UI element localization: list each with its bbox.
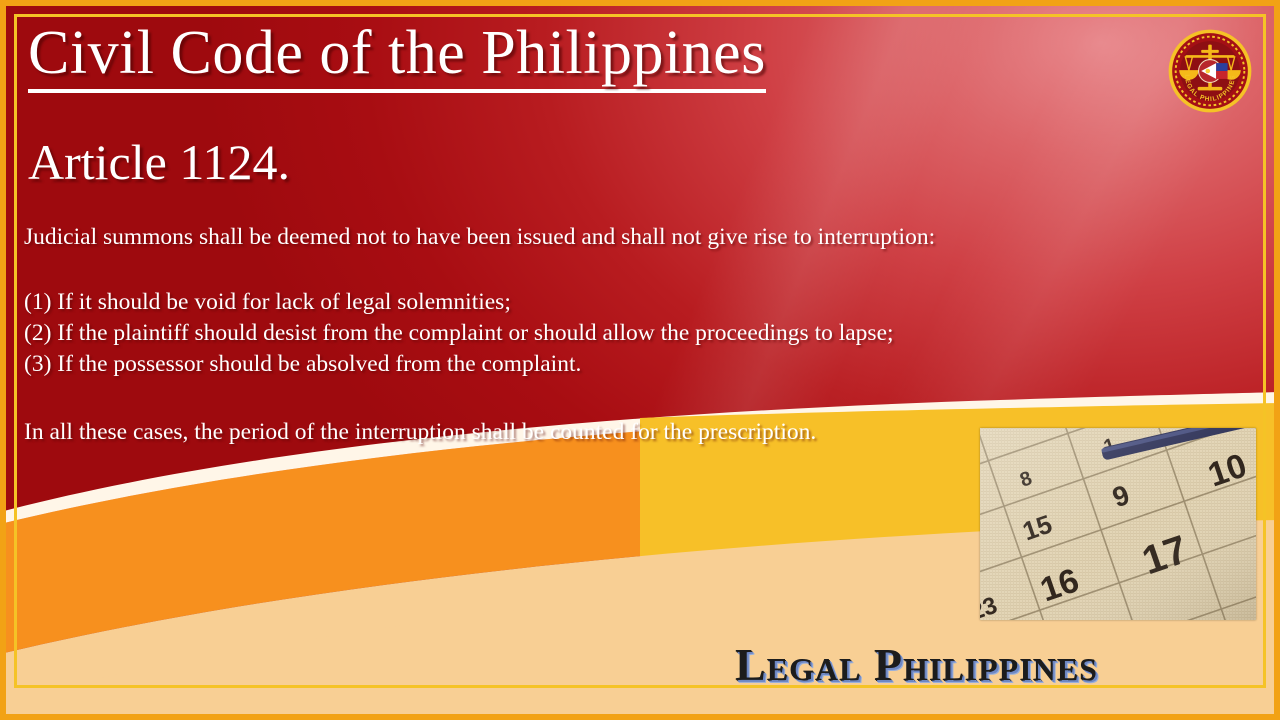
slide-canvas: LEGAL PHILIPPINES Civil Code of the Phil… [0, 0, 1280, 720]
enumeration-item-1: (1) If it should be void for lack of leg… [24, 287, 1248, 318]
article-body: Judicial summons shall be deemed not to … [24, 222, 1248, 448]
lead-paragraph: Judicial summons shall be deemed not to … [24, 222, 1248, 253]
legal-philippines-seal-icon: LEGAL PHILIPPINES [1166, 27, 1254, 115]
calendar-photo: 7 8 1 2 14 15 9 10 23 16 17 22 [980, 428, 1256, 620]
enumeration-item-2: (2) If the plaintiff should desist from … [24, 318, 1248, 349]
page-title: Civil Code of the Philippines [28, 20, 766, 93]
enumeration-item-3: (3) If the possessor should be absolved … [24, 349, 1248, 380]
brand-wordmark: Legal Philippines [735, 638, 1098, 691]
article-heading: Article 1124. [28, 133, 290, 191]
